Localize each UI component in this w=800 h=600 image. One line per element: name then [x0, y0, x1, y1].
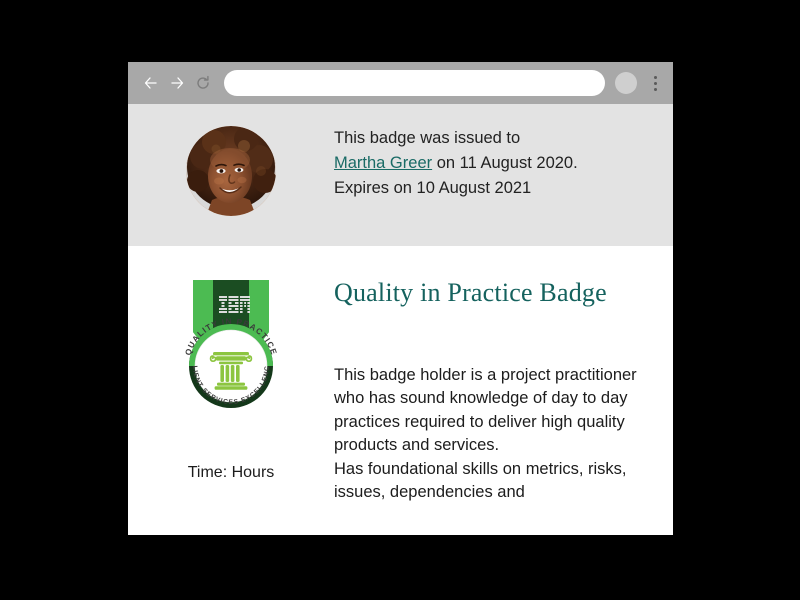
portrait-photo-icon [186, 126, 276, 216]
recipient-photo-container [128, 126, 334, 216]
forward-button[interactable] [164, 70, 190, 96]
badge-description: This badge holder is a project practitio… [334, 364, 651, 505]
issued-date-text: on 11 August 2020. [432, 154, 578, 172]
badge-image-column: QUALITY IN PRACTICE CLIENT SERVICES EXCE… [128, 270, 334, 482]
menu-dot [654, 88, 657, 91]
issued-expiry-text: Expires on 10 August 2021 [334, 179, 531, 197]
badge-detail-section: QUALITY IN PRACTICE CLIENT SERVICES EXCE… [128, 246, 673, 505]
overflow-menu-icon[interactable] [647, 72, 663, 94]
recipient-name-link[interactable]: Martha Greer [334, 154, 432, 172]
badge-title: Quality in Practice Badge [334, 278, 651, 308]
quality-in-practice-badge-icon: QUALITY IN PRACTICE CLIENT SERVICES EXCE… [167, 270, 295, 460]
issued-line-1: This badge was issued to [334, 129, 520, 147]
badge-info-column: Quality in Practice Badge This badge hol… [334, 270, 673, 505]
browser-toolbar [128, 62, 673, 104]
profile-avatar-icon[interactable] [615, 72, 637, 94]
recipient-avatar [186, 126, 276, 216]
reload-button[interactable] [190, 70, 216, 96]
badge-time-label: Time: Hours [188, 464, 275, 482]
browser-window: This badge was issued to Martha Greer on… [128, 62, 673, 535]
back-arrow-icon [143, 75, 159, 91]
address-bar[interactable] [224, 70, 605, 96]
reload-icon [195, 75, 211, 91]
issued-to-text: This badge was issued to Martha Greer on… [334, 126, 673, 201]
issued-to-section: This badge was issued to Martha Greer on… [128, 104, 673, 246]
forward-arrow-icon [169, 75, 185, 91]
back-button[interactable] [138, 70, 164, 96]
menu-dot [654, 82, 657, 85]
menu-dot [654, 76, 657, 79]
